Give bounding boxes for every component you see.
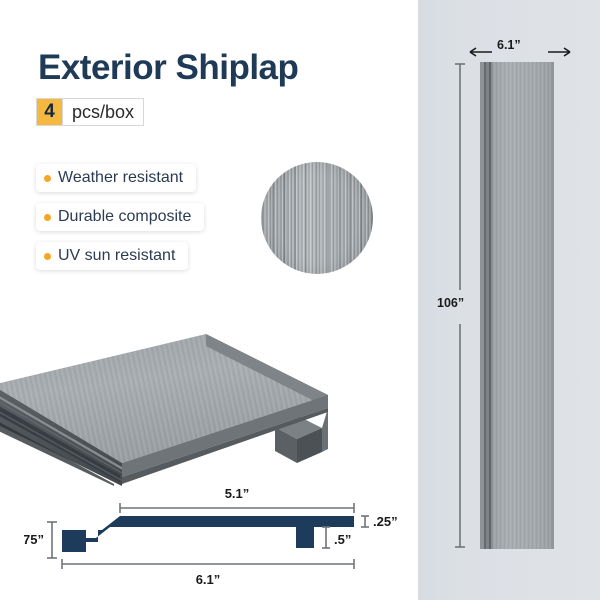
dim-label-overall-width: 6.1” <box>196 572 221 587</box>
pack-unit-label: pcs/box <box>62 98 144 126</box>
feature-label: Weather resistant <box>58 169 183 187</box>
dim-overall-width: 6.1” <box>62 559 354 587</box>
dim-label-plank-length: 106” <box>437 296 464 310</box>
bullet-dot-icon <box>44 175 51 182</box>
plank-front-view <box>480 62 554 549</box>
dim-label-face-thickness: .25” <box>373 514 398 529</box>
feature-chip-weather: Weather resistant <box>36 164 196 192</box>
profile-shape <box>62 516 354 552</box>
infographic-canvas: Exterior Shiplap 4 pcs/box Weather resis… <box>0 0 600 600</box>
dim-label-groove-depth: .5” <box>334 532 351 547</box>
dim-label-overall-thickness: .75” <box>24 532 44 547</box>
dim-face-width: 5.1” <box>120 486 354 513</box>
dim-face-thickness: .25” <box>361 514 398 529</box>
bullet-dot-icon <box>44 214 51 221</box>
dim-groove-depth: .5” <box>322 527 351 548</box>
dim-overall-thickness: .75” <box>24 522 57 558</box>
board-3d-render <box>0 222 348 486</box>
page-title: Exterior Shiplap <box>38 48 298 88</box>
dim-label-face-width: 5.1” <box>225 486 250 501</box>
pack-count-value: 4 <box>36 98 62 126</box>
cross-section-diagram: .dimline{stroke:#6f7479;stroke-width:1.6… <box>24 480 414 590</box>
dim-label-plank-width: 6.1” <box>497 38 521 52</box>
pack-quantity-badge: 4 pcs/box <box>36 98 144 126</box>
